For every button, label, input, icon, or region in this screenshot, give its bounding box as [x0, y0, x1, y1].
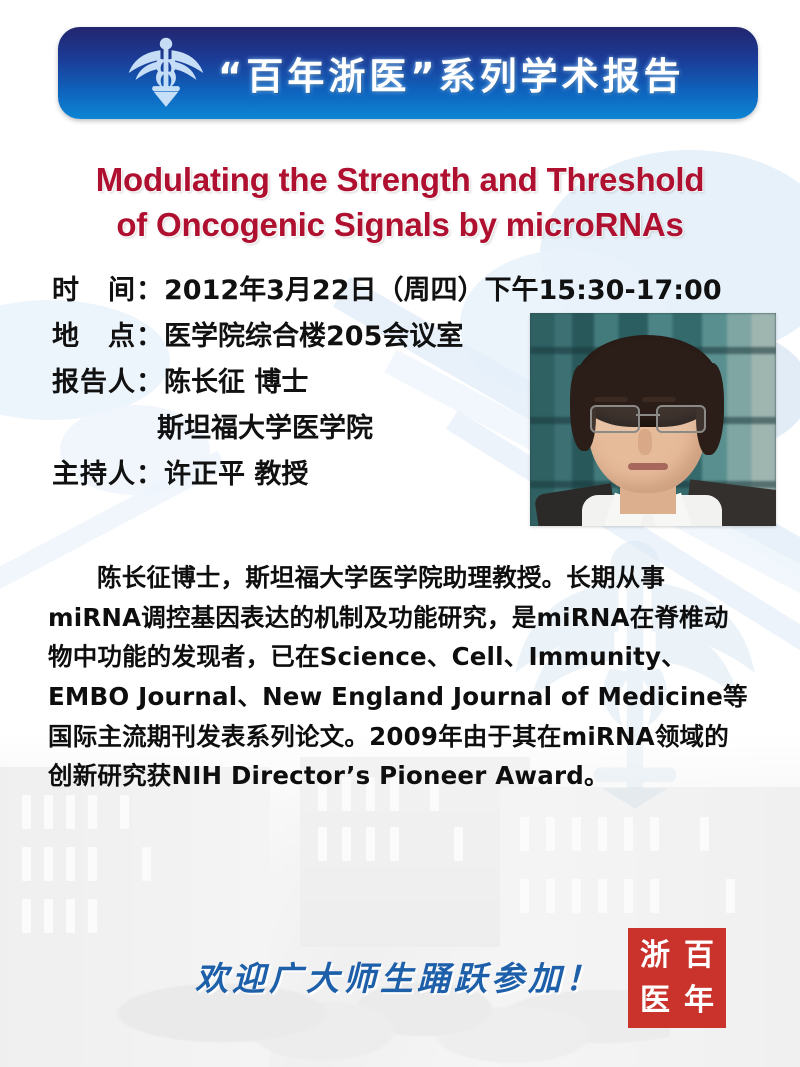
photo-mouth: [628, 463, 668, 470]
speaker-portrait-photo: [530, 313, 776, 526]
seal-char-2: 百: [677, 933, 721, 978]
info-label-speaker: 报告人：: [52, 367, 164, 398]
info-value-affiliation: 斯坦福大学医学院: [157, 413, 373, 444]
caduceus-icon: [120, 34, 212, 112]
photo-lens-right: [656, 405, 706, 433]
info-value-place: 医学院综合楼205会议室: [164, 321, 463, 352]
photo-lens-left: [590, 405, 640, 433]
info-row-time: 时 间：2012年3月22日（周四）下午15:30-17:00: [52, 268, 572, 314]
page-title: Modulating the Strength and Threshold of…: [0, 158, 800, 248]
speaker-bio-paragraph: 陈长征博士，斯坦福大学医学院助理教授。长期从事miRNA调控基因表达的机制及功能…: [48, 558, 748, 796]
photo-eyebrow-right: [642, 397, 676, 402]
red-seal-stamp: 浙 百 医 年: [628, 928, 726, 1028]
page-title-line1: Modulating the Strength and Threshold: [96, 161, 705, 198]
photo-eyebrow-left: [594, 397, 628, 402]
info-label-place: 地 点：: [52, 321, 164, 352]
seal-char-4: 年: [677, 978, 721, 1023]
glasses-icon: [590, 405, 706, 429]
info-value-time: 2012年3月22日（周四）下午15:30-17:00: [164, 275, 722, 306]
banner-title: “百年浙医”系列学术报告: [218, 46, 685, 100]
welcome-slogan: 欢迎广大师生踊跃参加！: [195, 952, 602, 1000]
page-title-line2: of Oncogenic Signals by microRNAs: [0, 203, 800, 248]
seal-char-3: 医: [633, 978, 677, 1023]
photo-nose: [638, 429, 652, 455]
info-row-speaker: 报告人：陈长征 博士: [52, 360, 572, 406]
poster-root: “百年浙医”系列学术报告 Modulating the Strength and…: [0, 0, 800, 1067]
seal-char-1: 浙: [633, 933, 677, 978]
info-row-affiliation: 斯坦福大学医学院: [52, 406, 572, 452]
watermark-building-left: [0, 767, 270, 1067]
header-banner: “百年浙医”系列学术报告: [58, 27, 758, 119]
info-row-host: 主持人：许正平 教授: [52, 452, 572, 498]
event-info-block: 时 间：2012年3月22日（周四）下午15:30-17:00 地 点：医学院综…: [52, 268, 572, 497]
info-value-speaker: 陈长征 博士: [164, 367, 308, 398]
info-label-time: 时 间：: [52, 275, 164, 306]
info-row-place: 地 点：医学院综合楼205会议室: [52, 314, 572, 360]
info-label-host: 主持人：: [52, 459, 164, 490]
info-value-host: 许正平 教授: [164, 459, 308, 490]
